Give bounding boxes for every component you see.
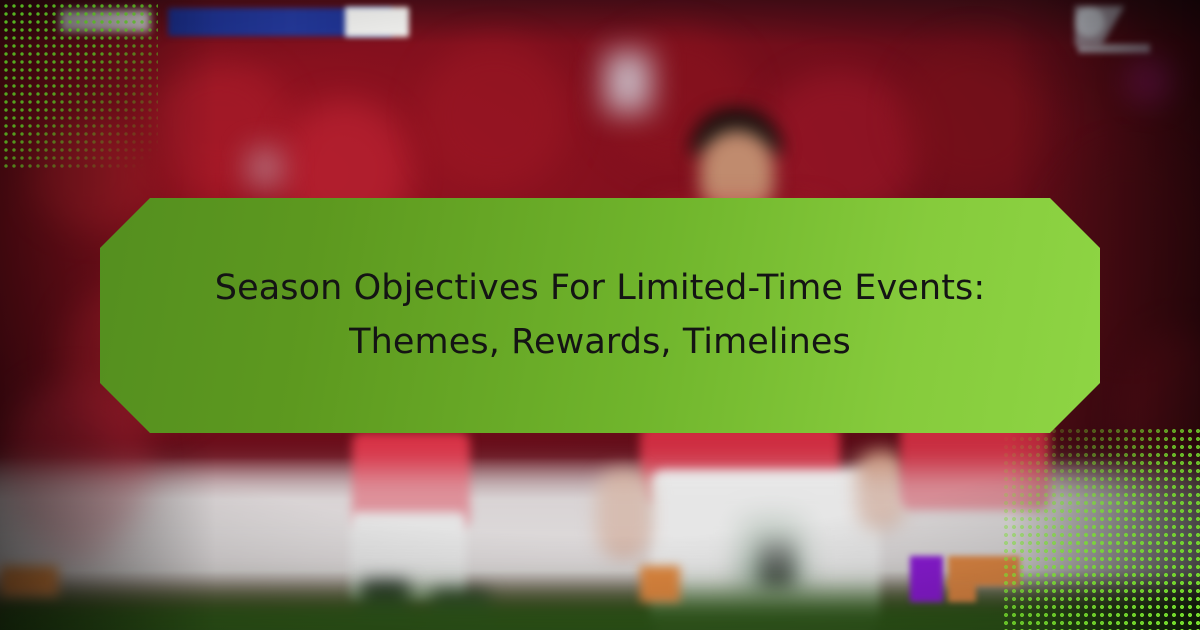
title-banner: Season Objectives For Limited-Time Event… (100, 198, 1100, 433)
social-share-card: Season Objectives For Limited-Time Event… (0, 0, 1200, 630)
page-title: Season Objectives For Limited-Time Event… (215, 262, 986, 368)
page-title-line-2: Themes, Rewards, Timelines (349, 322, 851, 362)
page-title-line-1: Season Objectives For Limited-Time Event… (215, 268, 986, 308)
